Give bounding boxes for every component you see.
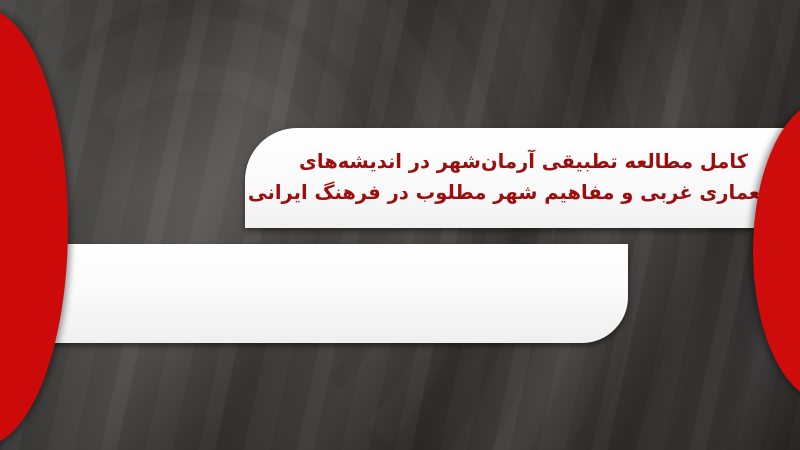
slide-canvas: کامل مطالعه تطبیقی آرمان‌شهر در اندیشه‌ه…	[0, 0, 800, 450]
title-plate[interactable]: کامل مطالعه تطبیقی آرمان‌شهر در اندیشه‌ه…	[245, 128, 800, 228]
content-body-text	[50, 244, 628, 272]
slide-title-line-2: معماری غربی و مفاهیم شهر مطلوب در فرهنگ …	[275, 178, 772, 209]
slide-title: کامل مطالعه تطبیقی آرمان‌شهر در اندیشه‌ه…	[245, 147, 800, 209]
slide-title-line-1: کامل مطالعه تطبیقی آرمان‌شهر در اندیشه‌ه…	[275, 147, 772, 178]
content-placeholder[interactable]	[50, 244, 628, 343]
